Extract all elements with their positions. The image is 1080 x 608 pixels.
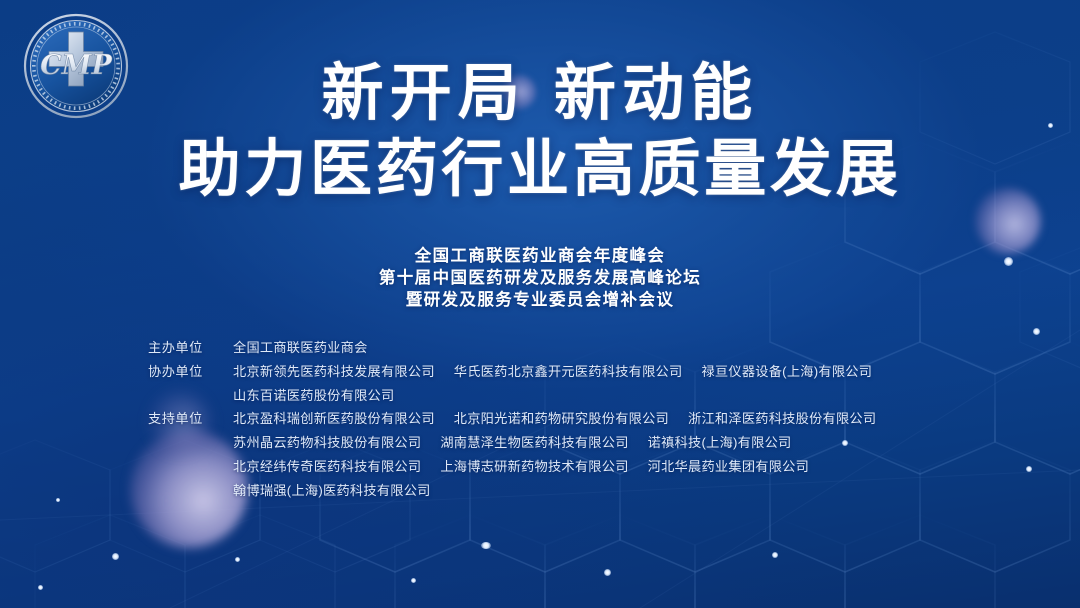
organization-name: 北京经纬传奇医药科技有限公司 [233,455,421,479]
title-line-2: 助力医药行业高质量发展 [0,138,1080,200]
sparkle-dot [56,498,60,502]
organization-name: 北京阳光诺和药物研究股份有限公司 [454,407,669,431]
organization-name: 诺禛科技(上海)有限公司 [648,431,792,455]
credit-group-host: 主办单位 全国工商联医药业商会 [148,336,876,360]
organization-name: 苏州晶云药物科技股份有限公司 [233,431,421,455]
sparkle-dot [235,557,240,562]
credit-continuation: 苏州晶云药物科技股份有限公司湖南慧泽生物医药科技有限公司诺禛科技(上海)有限公司 [233,431,876,455]
organization-name: 翰博瑞强(上海)医药科技有限公司 [233,479,431,503]
title-line-1: 新开局 新动能 [0,62,1080,124]
sparkle-dot [604,569,611,576]
credit-group-coorganizer: 协办单位 北京新领先医药科技发展有限公司华氏医药北京鑫开元医药科技有限公司禄亘仪… [148,360,876,384]
sparkle-dot [1026,466,1032,472]
poster-subtitles: 全国工商联医药业商会年度峰会 第十届中国医药研发及服务发展高峰论坛 暨研发及服务… [0,245,1080,311]
subtitle-line-3: 暨研发及服务专业委员会增补会议 [0,289,1080,311]
organization-name: 华氏医药北京鑫开元医药科技有限公司 [454,360,683,384]
organization-name: 河北华晨药业集团有限公司 [648,455,809,479]
organization-name: 北京新领先医药科技发展有限公司 [233,360,435,384]
organization-name: 北京盈科瑞创新医药股份有限公司 [233,407,435,431]
credit-organizations: 北京盈科瑞创新医药股份有限公司北京阳光诺和药物研究股份有限公司浙江和泽医药科技股… [233,407,876,431]
organization-name: 山东百诺医药股份有限公司 [233,384,394,408]
credit-continuation: 北京经纬传奇医药科技有限公司上海博志研新药物技术有限公司河北华晨药业集团有限公司 [233,455,876,479]
sparkle-dot [1033,328,1040,335]
poster-headline: 新开局 新动能 助力医药行业高质量发展 [0,62,1080,200]
sparkle-dot [481,542,491,549]
sparkle-dot [772,552,778,558]
credit-group-supporter: 支持单位 北京盈科瑞创新医药股份有限公司北京阳光诺和药物研究股份有限公司浙江和泽… [148,407,876,431]
conference-poster: CMP CMP 新开局 新动能 助力医药行业高质量发展 全国工商联医药业商会年度… [0,0,1080,608]
organization-name: 全国工商联医药业商会 [233,336,368,360]
organization-name: 上海博志研新药物技术有限公司 [440,455,628,479]
credit-organizations: 北京新领先医药科技发展有限公司华氏医药北京鑫开元医药科技有限公司禄亘仪器设备(上… [233,360,876,384]
sparkle-dot [38,585,43,590]
organization-name: 浙江和泽医药科技股份有限公司 [688,407,876,431]
sparkle-dot [112,553,119,560]
credit-continuation: 山东百诺医药股份有限公司 [233,384,876,408]
credit-label: 支持单位 [148,407,233,431]
credit-organizations: 全国工商联医药业商会 [233,336,876,360]
credit-label: 协办单位 [148,360,233,384]
sparkle-dot [411,578,416,583]
organization-name: 禄亘仪器设备(上海)有限公司 [701,360,872,384]
credit-label: 主办单位 [148,336,233,360]
subtitle-line-2: 第十届中国医药研发及服务发展高峰论坛 [0,267,1080,289]
organization-name: 湖南慧泽生物医药科技有限公司 [440,431,628,455]
credits-block: 主办单位 全国工商联医药业商会 协办单位 北京新领先医药科技发展有限公司华氏医药… [148,336,876,503]
credit-continuation: 翰博瑞强(上海)医药科技有限公司 [233,479,876,503]
subtitle-line-1: 全国工商联医药业商会年度峰会 [0,245,1080,267]
